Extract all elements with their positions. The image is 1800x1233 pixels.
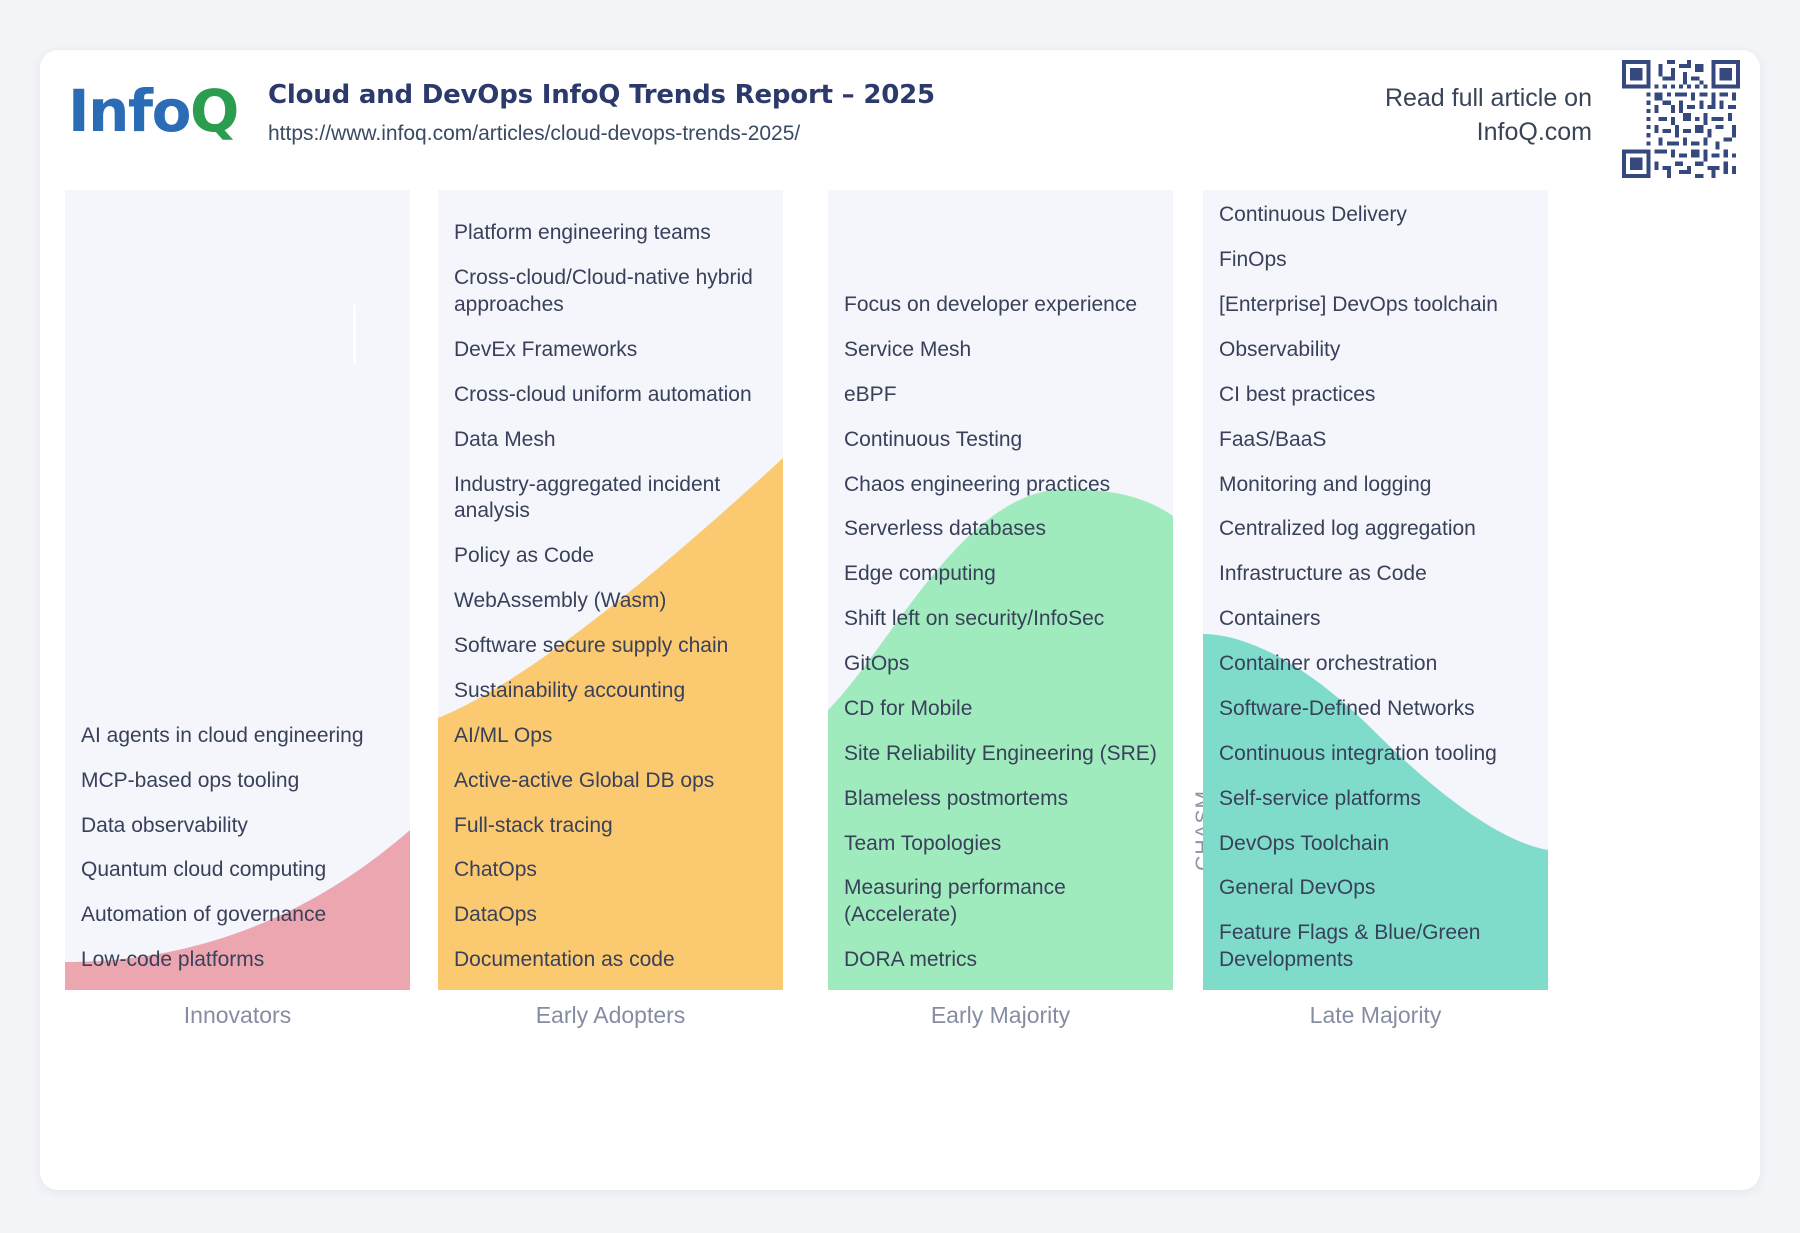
innovators-item-list: AI agents in cloud engineering MCP-based… — [65, 723, 410, 984]
list-item: eBPF — [844, 382, 1157, 409]
page-root: InfoQ Cloud and DevOps InfoQ Trends Repo… — [0, 0, 1800, 1233]
list-item: Chaos engineering practices — [844, 472, 1157, 499]
list-item: Container orchestration — [1219, 651, 1532, 678]
list-item: Data Mesh — [454, 427, 767, 454]
list-item: Software-Defined Networks — [1219, 696, 1532, 723]
list-item: ChatOps — [454, 857, 767, 884]
report-header: InfoQ Cloud and DevOps InfoQ Trends Repo… — [40, 50, 1760, 200]
qr-code-icon[interactable] — [1622, 60, 1740, 178]
list-item: DevEx Frameworks — [454, 337, 767, 364]
list-item: Low-code platforms — [81, 947, 394, 974]
column-label-early-adopters: Early Adopters — [438, 1002, 783, 1029]
early-adopters-item-list: Platform engineering teams Cross-cloud/C… — [438, 220, 783, 984]
list-item: Continuous Delivery — [1219, 202, 1532, 229]
list-item: Platform engineering teams — [454, 220, 767, 247]
list-item: Observability — [1219, 337, 1532, 364]
list-item: Infrastructure as Code — [1219, 561, 1532, 588]
read-line-1: Read full article on — [1262, 82, 1592, 116]
report-card: InfoQ Cloud and DevOps InfoQ Trends Repo… — [40, 50, 1760, 1190]
list-item: Documentation as code — [454, 947, 767, 974]
list-item: Continuous integration tooling — [1219, 741, 1532, 768]
list-item: Quantum cloud computing — [81, 857, 394, 884]
list-item: FinOps — [1219, 247, 1532, 274]
title-block: Cloud and DevOps InfoQ Trends Report – 2… — [268, 80, 935, 146]
list-item: Focus on developer experience — [844, 292, 1157, 319]
logo-info-text: Info — [68, 77, 190, 145]
list-item: Cross-cloud/Cloud-native hybrid approach… — [454, 265, 767, 319]
infoq-logo: InfoQ — [68, 82, 238, 140]
list-item: DataOps — [454, 902, 767, 929]
list-item: Shift left on security/InfoSec — [844, 606, 1157, 633]
list-item: Active-active Global DB ops — [454, 768, 767, 795]
column-label-late-majority: Late Majority — [1203, 1002, 1548, 1029]
decorative-line — [353, 304, 356, 364]
list-item: Measuring performance (Accelerate) — [844, 875, 1157, 929]
late-majority-item-list: Continuous Delivery FinOps [Enterprise] … — [1203, 202, 1548, 984]
list-item: Self-service platforms — [1219, 786, 1532, 813]
list-item: DORA metrics — [844, 947, 1157, 974]
list-item: DevOps Toolchain — [1219, 831, 1532, 858]
list-item: Full-stack tracing — [454, 813, 767, 840]
list-item: CI best practices — [1219, 382, 1532, 409]
column-label-early-majority: Early Majority — [828, 1002, 1173, 1029]
list-item: Cross-cloud uniform automation — [454, 382, 767, 409]
list-item: Industry-aggregated incident analysis — [454, 472, 767, 526]
column-early-adopters-body: Platform engineering teams Cross-cloud/C… — [438, 190, 783, 990]
logo-q-text: Q — [190, 77, 238, 145]
list-item: Serverless databases — [844, 516, 1157, 543]
list-item: [Enterprise] DevOps toolchain — [1219, 292, 1532, 319]
list-item: General DevOps — [1219, 875, 1532, 902]
report-url[interactable]: https://www.infoq.com/articles/cloud-dev… — [268, 122, 935, 146]
list-item: Automation of governance — [81, 902, 394, 929]
list-item: Centralized log aggregation — [1219, 516, 1532, 543]
list-item: GitOps — [844, 651, 1157, 678]
list-item: MCP-based ops tooling — [81, 768, 394, 795]
column-late-majority-body: Continuous Delivery FinOps [Enterprise] … — [1203, 190, 1548, 990]
read-full-article-text: Read full article on InfoQ.com — [1262, 82, 1592, 150]
column-label-innovators: Innovators — [65, 1002, 410, 1029]
list-item: Edge computing — [844, 561, 1157, 588]
list-item: Site Reliability Engineering (SRE) — [844, 741, 1157, 768]
list-item: Sustainability accounting — [454, 678, 767, 705]
list-item: FaaS/BaaS — [1219, 427, 1532, 454]
list-item: Blameless postmortems — [844, 786, 1157, 813]
list-item: Feature Flags & Blue/Green Developments — [1219, 920, 1532, 974]
column-innovators-body: AI agents in cloud engineering MCP-based… — [65, 190, 410, 990]
list-item: Continuous Testing — [844, 427, 1157, 454]
list-item: Data observability — [81, 813, 394, 840]
list-item: Policy as Code — [454, 543, 767, 570]
list-item: Team Topologies — [844, 831, 1157, 858]
list-item: Monitoring and logging — [1219, 472, 1532, 499]
list-item: Containers — [1219, 606, 1532, 633]
early-majority-item-list: Focus on developer experience Service Me… — [828, 292, 1173, 984]
list-item: Service Mesh — [844, 337, 1157, 364]
column-early-majority-body: Focus on developer experience Service Me… — [828, 190, 1173, 990]
read-line-2: InfoQ.com — [1262, 116, 1592, 150]
list-item: Software secure supply chain — [454, 633, 767, 660]
page-title: Cloud and DevOps InfoQ Trends Report – 2… — [268, 80, 935, 110]
adoption-curve-chart: CHASM AI agents in cloud engineering MCP… — [40, 190, 1760, 1190]
list-item: AI/ML Ops — [454, 723, 767, 750]
list-item: AI agents in cloud engineering — [81, 723, 394, 750]
list-item: WebAssembly (Wasm) — [454, 588, 767, 615]
list-item: CD for Mobile — [844, 696, 1157, 723]
